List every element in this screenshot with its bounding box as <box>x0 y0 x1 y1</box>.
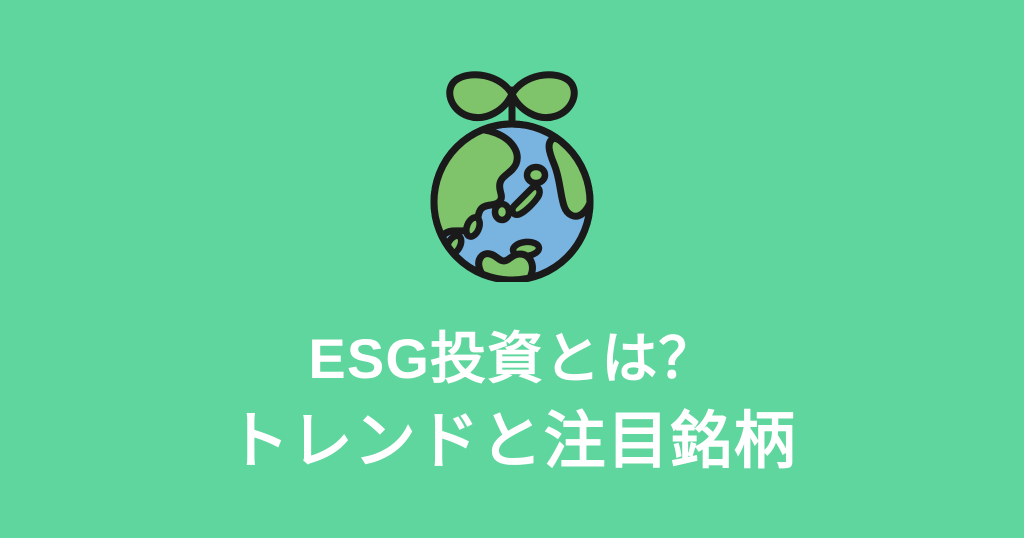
island-lower-left-c <box>422 243 444 261</box>
hero-banner: ESG投資とは？ トレンドと注目銘柄 <box>0 0 1024 538</box>
island-mid-small <box>495 204 509 220</box>
left-leaf-icon <box>450 75 512 118</box>
earth-with-sprout-illustration <box>0 0 1024 300</box>
headline-line-1: ESG投資とは？ <box>0 318 1024 400</box>
island-upper-round <box>527 167 545 183</box>
headline-line-2: トレンドと注目銘柄 <box>0 400 1024 484</box>
right-leaf-icon <box>512 75 574 118</box>
globe-sprout-svg <box>402 42 622 282</box>
page-title: ESG投資とは？ トレンドと注目銘柄 <box>0 318 1024 484</box>
